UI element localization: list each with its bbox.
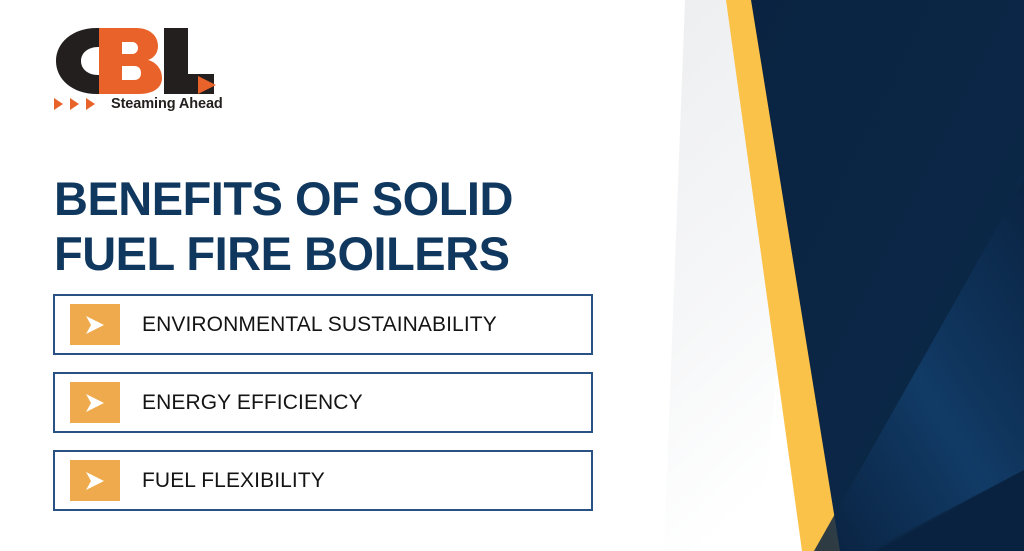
navy-panel (751, 0, 1024, 551)
decorative-geometry (664, 0, 1024, 551)
benefit-label-2: ENERGY EFFICIENCY (142, 391, 363, 415)
page-title-line-1: BENEFITS OF SOLID (54, 172, 674, 227)
benefit-label-1: ENVIRONMENTAL SUSTAINABILITY (142, 313, 497, 337)
logo-tagline-row: Steaming Ahead (54, 96, 223, 112)
gray-angled-shape (664, 0, 814, 551)
navy-corner-shadow (876, 470, 1024, 551)
benefit-item-1[interactable]: ENVIRONMENTAL SUSTAINABILITY (53, 294, 593, 355)
slide-canvas: Steaming Ahead BENEFITS OF SOLID FUEL FI… (0, 0, 1024, 551)
tagline-arrow-icon-3 (86, 98, 95, 110)
chevron-right-icon (70, 382, 120, 423)
yellow-diagonal-stripe (726, 0, 844, 551)
page-title: BENEFITS OF SOLID FUEL FIRE BOILERS (54, 172, 674, 281)
navy-sheen-band (814, 180, 1024, 551)
tagline-arrow-icon-2 (70, 98, 79, 110)
logo-tagline-text: Steaming Ahead (111, 96, 223, 112)
benefits-list: ENVIRONMENTAL SUSTAINABILITY ENERGY EFFI… (53, 294, 593, 511)
benefit-item-3[interactable]: FUEL FLEXIBILITY (53, 450, 593, 511)
page-title-line-2: FUEL FIRE BOILERS (54, 227, 674, 282)
benefit-label-3: FUEL FLEXIBILITY (142, 469, 325, 493)
benefit-item-2[interactable]: ENERGY EFFICIENCY (53, 372, 593, 433)
tagline-arrow-icon-1 (54, 98, 63, 110)
chevron-right-icon (70, 460, 120, 501)
chevron-right-icon (70, 304, 120, 345)
cbl-logo-mark (52, 24, 217, 96)
cbl-logo: Steaming Ahead (52, 24, 282, 124)
